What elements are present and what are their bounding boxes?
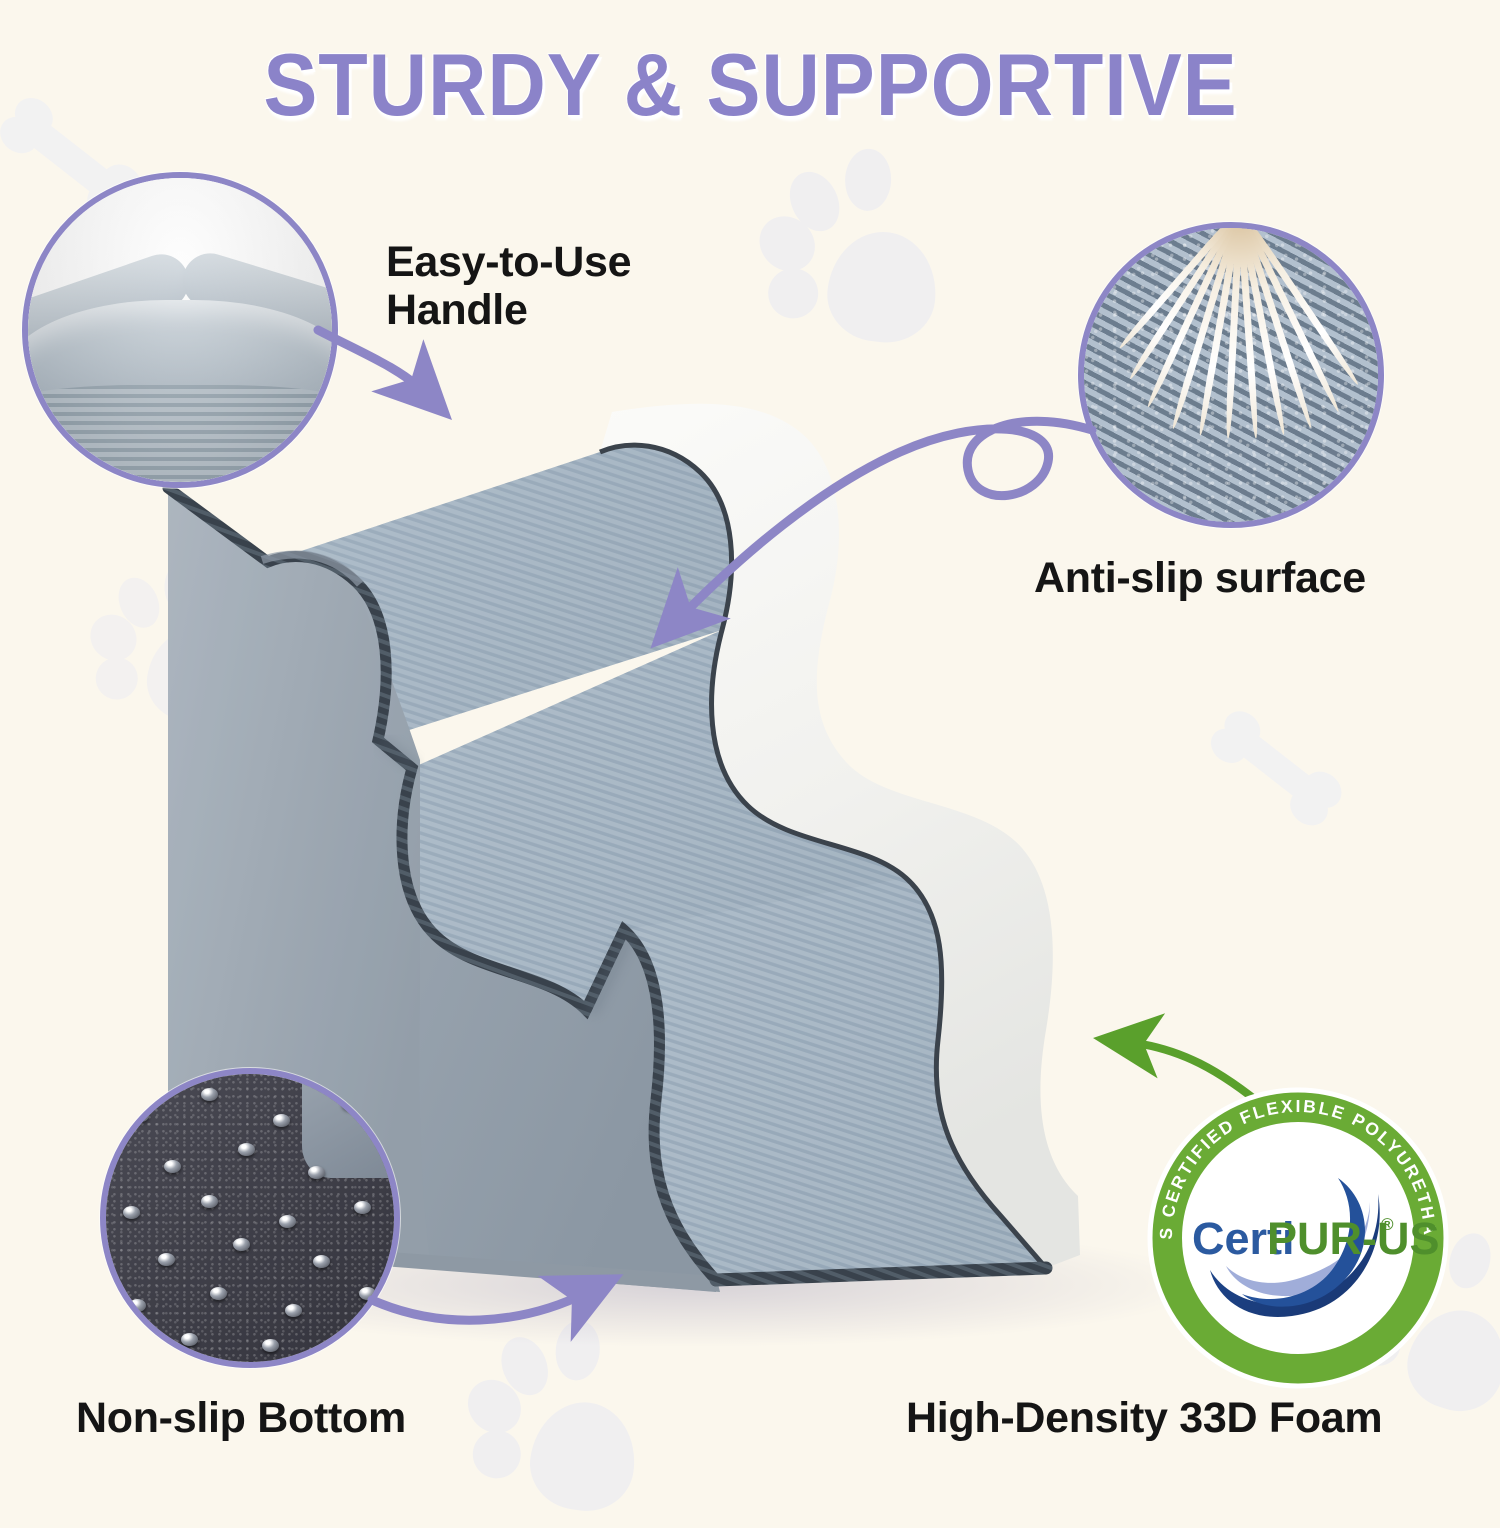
handle-closeup-circle[interactable] xyxy=(22,172,338,488)
label-handle-line2: Handle xyxy=(386,286,631,334)
nonslip-closeup-circle[interactable] xyxy=(100,1068,400,1368)
antislip-closeup-circle[interactable] xyxy=(1078,222,1384,528)
label-easy-to-use-handle: Easy-to-Use Handle xyxy=(386,238,631,334)
handle-closeup-image xyxy=(28,178,332,482)
label-non-slip-bottom: Non-slip Bottom xyxy=(76,1394,406,1442)
label-handle-line1: Easy-to-Use xyxy=(386,238,631,286)
certipur-us-badge[interactable]: CONTAINS CERTIFIED FLEXIBLE POLYURETHANE… xyxy=(1142,1082,1454,1394)
nonslip-closeup-image xyxy=(106,1074,394,1362)
svg-text:®: ® xyxy=(1381,1215,1394,1234)
svg-text:PUR-US: PUR-US xyxy=(1267,1213,1440,1264)
antislip-closeup-image xyxy=(1084,228,1378,522)
dog-paw-fur xyxy=(1160,222,1319,440)
title-container: STURDY & SUPPORTIVE xyxy=(0,34,1500,136)
infographic-canvas: STURDY & SUPPORTIVE xyxy=(0,0,1500,1500)
badge-center-text: Certi PUR-US ® xyxy=(1192,1213,1440,1264)
label-anti-slip-surface: Anti-slip surface xyxy=(1034,554,1366,602)
page-title: STURDY & SUPPORTIVE xyxy=(263,34,1237,136)
label-high-density-foam: High-Density 33D Foam xyxy=(906,1394,1382,1442)
